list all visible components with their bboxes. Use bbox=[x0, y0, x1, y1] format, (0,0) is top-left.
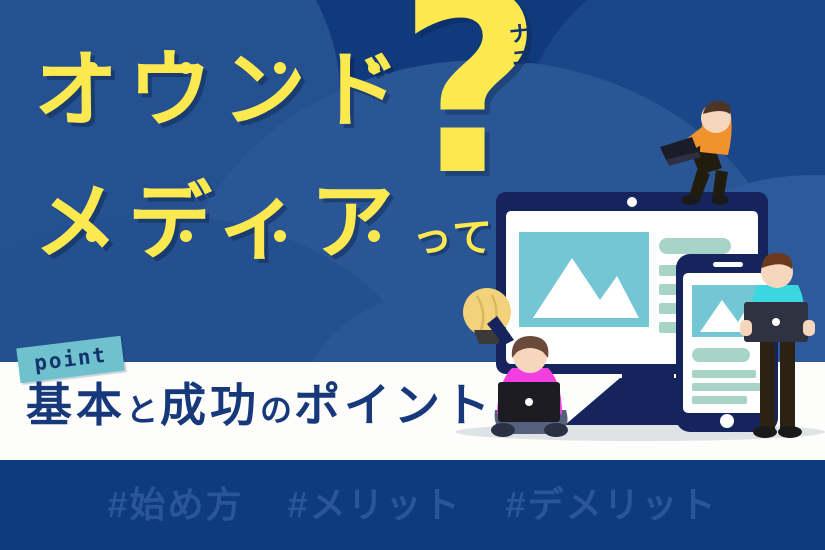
person-hand bbox=[803, 320, 815, 336]
subtitle-part-2: と bbox=[126, 392, 160, 428]
phone-text-bar bbox=[692, 383, 762, 391]
footer-bar: #始め方 #メリット #デメリット bbox=[0, 460, 825, 550]
phone-home-button[interactable] bbox=[720, 414, 734, 428]
banner-root: オウンド メディア って ? ナニ point 基本と成功のポイント #始め方 … bbox=[0, 0, 825, 550]
person-shoe bbox=[491, 423, 515, 437]
laptop-logo-icon bbox=[772, 318, 780, 326]
phone-text-bar bbox=[692, 370, 756, 378]
bouten-dot bbox=[86, 230, 98, 242]
person-shoe bbox=[681, 195, 699, 205]
person-shoe bbox=[753, 426, 777, 438]
point-badge-label: point bbox=[33, 343, 109, 376]
subtitle: 基本と成功のポイント bbox=[26, 382, 494, 428]
hashtag-item[interactable]: #メリット bbox=[287, 487, 461, 523]
person-shoe bbox=[544, 423, 568, 437]
bouten-dot bbox=[368, 230, 380, 242]
person-hand bbox=[740, 320, 752, 336]
headline-text-2: メディア bbox=[34, 180, 404, 264]
question-mark-graphic: ? ナニ bbox=[398, 0, 558, 204]
monitor-text-bar bbox=[659, 238, 731, 254]
person-shoe bbox=[711, 195, 729, 205]
subtitle-part-1: 基本 bbox=[26, 379, 126, 431]
phone-text-bar bbox=[692, 396, 747, 404]
subtitle-part-4: の bbox=[260, 392, 294, 428]
hashtag-list: #始め方 #メリット #デメリット bbox=[107, 487, 717, 523]
question-mark-furigana: ナニ bbox=[506, 21, 534, 71]
bouten-dot bbox=[274, 230, 286, 242]
headline-dots-line2 bbox=[86, 230, 462, 242]
phone-speaker-icon bbox=[713, 262, 743, 267]
subtitle-part-3: 成功 bbox=[160, 379, 260, 431]
bouten-dot bbox=[86, 62, 98, 74]
person-shoe bbox=[778, 426, 802, 438]
headline-text-1: オウンド bbox=[34, 48, 410, 132]
hashtag-item[interactable]: #デメリット bbox=[506, 487, 718, 523]
phone-text-bar bbox=[692, 348, 750, 362]
bouten-dot bbox=[180, 62, 192, 74]
laptop-logo-icon bbox=[525, 398, 533, 406]
monitor-camera-icon bbox=[627, 197, 637, 207]
bouten-dot bbox=[368, 62, 380, 74]
hashtag-item[interactable]: #始め方 bbox=[107, 487, 243, 523]
bouten-dot bbox=[180, 230, 192, 242]
bouten-dot bbox=[274, 62, 286, 74]
subtitle-part-5: ポイント bbox=[294, 379, 494, 431]
